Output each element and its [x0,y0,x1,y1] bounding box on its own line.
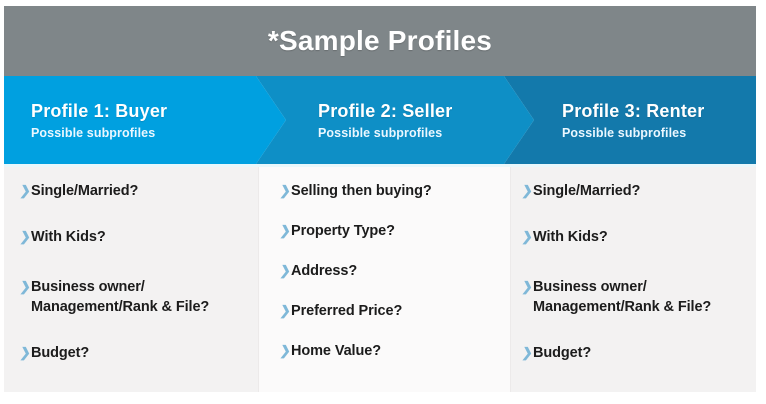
list-item-label: Preferred Price? [291,301,402,321]
list-item-label: With Kids? [533,227,608,247]
list-item-label: Business owner/ Management/Rank & File? [533,277,711,317]
list-item-label: Budget? [31,343,89,363]
list-item[interactable]: ❯ Single/Married? [522,181,748,201]
list-item-label: Business owner/ Management/Rank & File? [31,277,209,317]
title-bar: *Sample Profiles [4,6,756,76]
column-divider [510,167,511,392]
list-item-label: Property Type? [291,221,395,241]
list-item-label: Home Value? [291,341,381,361]
profile-column-3: ❯ Single/Married? ❯ With Kids? ❯ Busines… [510,167,756,392]
profile-header-subtitle-3: Possible subprofiles [562,126,756,140]
chevron-right-icon: ❯ [279,264,292,277]
header-underline [4,164,756,167]
chevron-right-icon: ❯ [521,346,534,359]
list-item[interactable]: ❯ Business owner/ Management/Rank & File… [20,277,250,317]
chevron-right-icon: ❯ [19,184,32,197]
profile-header-title-3: Profile 3: Renter [562,101,756,122]
list-item[interactable]: ❯ Property Type? [280,221,502,241]
list-item-label: Budget? [533,343,591,363]
profile-header-1[interactable]: Profile 1: Buyer Possible subprofiles [4,76,286,164]
profile-header-title-1: Profile 1: Buyer [31,101,286,122]
list-item[interactable]: ❯ With Kids? [20,227,250,247]
list-item[interactable]: ❯ With Kids? [522,227,748,247]
list-item-label: Address? [291,261,357,281]
list-item-label: With Kids? [31,227,106,247]
profile-column-2: ❯ Selling then buying? ❯ Property Type? … [258,167,510,392]
list-item[interactable]: ❯ Business owner/ Management/Rank & File… [522,277,748,317]
chevron-right-icon: ❯ [19,280,32,293]
list-item-label: Single/Married? [31,181,138,201]
chevron-right-icon: ❯ [279,184,292,197]
column-divider [258,167,259,392]
chevron-right-icon: ❯ [279,224,292,237]
list-item-label: Selling then buying? [291,181,432,201]
list-item[interactable]: ❯ Selling then buying? [280,181,502,201]
profile-header-subtitle-2: Possible subprofiles [318,126,534,140]
chevron-right-icon: ❯ [279,304,292,317]
list-item[interactable]: ❯ Home Value? [280,341,502,361]
list-item[interactable]: ❯ Preferred Price? [280,301,502,321]
chevron-right-icon: ❯ [521,184,534,197]
list-item[interactable]: ❯ Single/Married? [20,181,250,201]
list-item[interactable]: ❯ Budget? [522,343,748,363]
profile-header-subtitle-1: Possible subprofiles [31,126,286,140]
list-item[interactable]: ❯ Address? [280,261,502,281]
page-title: *Sample Profiles [268,25,492,57]
profile-header-3[interactable]: Profile 3: Renter Possible subprofiles [504,76,756,164]
chevron-right-icon: ❯ [279,344,292,357]
profile-header-strip: Profile 1: Buyer Possible subprofiles Pr… [4,76,756,164]
list-item-label: Single/Married? [533,181,640,201]
profile-header-title-2: Profile 2: Seller [318,101,534,122]
chevron-right-icon: ❯ [19,230,32,243]
profile-column-1: ❯ Single/Married? ❯ With Kids? ❯ Busines… [4,167,258,392]
profile-columns: ❯ Single/Married? ❯ With Kids? ❯ Busines… [4,167,756,392]
profile-header-2[interactable]: Profile 2: Seller Possible subprofiles [256,76,534,164]
list-item[interactable]: ❯ Budget? [20,343,250,363]
chevron-right-icon: ❯ [521,230,534,243]
chevron-right-icon: ❯ [19,346,32,359]
chevron-right-icon: ❯ [521,280,534,293]
sample-profiles-infographic: *Sample Profiles Profile 1: Buyer Possib… [4,6,756,392]
